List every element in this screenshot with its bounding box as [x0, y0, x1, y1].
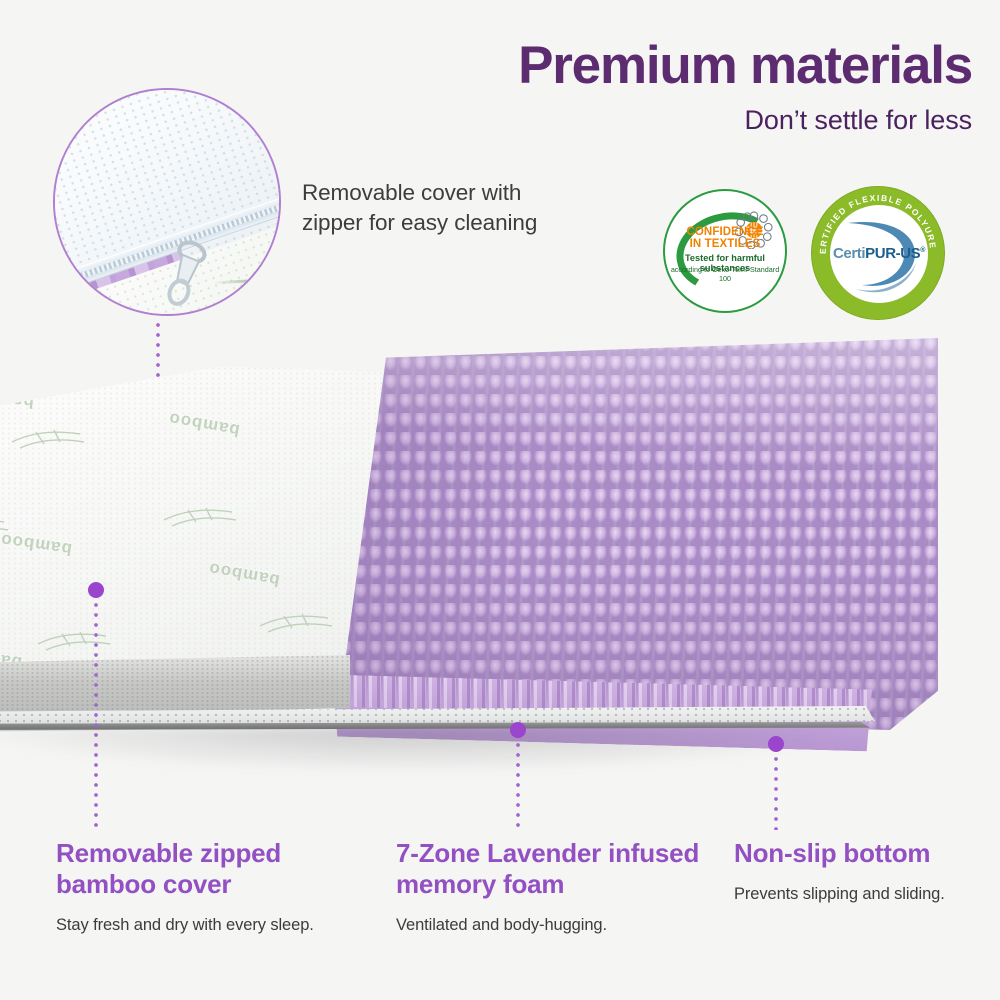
page-subtitle: Don’t settle for less — [352, 105, 972, 136]
mattress-topper: bamboo bamboo bamboo bamboo bamboo bambo… — [0, 330, 950, 760]
certipur-core: CertiPUR-US® — [830, 205, 928, 303]
bamboo-leaf-icon — [10, 426, 88, 452]
certipur-wordmark: CertiPUR-US® — [830, 245, 928, 262]
bamboo-leaf-icon — [0, 514, 12, 540]
cover-print-word: bamboo — [0, 384, 35, 411]
page-title: Premium materials — [352, 38, 972, 93]
bamboo-leaf-icon — [162, 504, 240, 530]
feature-description: Ventilated and body-hugging. — [396, 916, 716, 935]
oeko-tex-badge: CONFIDENCE IN TEXTILES Tested for harmfu… — [663, 189, 787, 313]
oeko-standard-line: according to Oeko-Tex® Standard 100 — [669, 265, 781, 283]
callout-dot-bamboo-cover — [88, 582, 104, 598]
feature-title: 7-Zone Lavender infused memory foam — [396, 838, 716, 900]
certipur-us-badge: CONTAINS CERTIFIED FLEXIBLE POLYURETHANE… — [811, 186, 945, 320]
callout-line-bamboo-cover — [94, 600, 98, 828]
feature-item-bamboo-cover: Removable zipped bamboo cover Stay fresh… — [56, 838, 356, 935]
certification-badges: CONFIDENCE IN TEXTILES Tested for harmfu… — [663, 186, 963, 316]
egg-crate-foam-surface — [338, 338, 938, 730]
foam-shading — [338, 338, 938, 730]
feature-item-memory-foam: 7-Zone Lavender infused memory foam Vent… — [396, 838, 716, 935]
headline-block: Premium materials Don’t settle for less — [352, 38, 972, 136]
feature-list: Removable zipped bamboo cover Stay fresh… — [0, 838, 1000, 968]
zipper-detail-inset — [53, 88, 281, 316]
cover-print-word: bamboo — [167, 408, 241, 440]
cover-print-word: bamboo — [207, 558, 281, 590]
zipper-callout-text: Removable cover with zipper for easy cle… — [302, 178, 582, 238]
callout-dot-foam — [510, 722, 526, 738]
callout-line-non-slip — [774, 754, 778, 830]
ground-shadow — [0, 728, 860, 774]
product-infographic: Premium materials Don’t settle for less — [0, 0, 1000, 1000]
feature-description: Prevents slipping and sliding. — [734, 885, 994, 904]
callout-dot-non-slip — [768, 736, 784, 752]
oeko-headline: CONFIDENCE IN TEXTILES — [665, 226, 785, 251]
callout-line-foam — [516, 740, 520, 830]
feature-item-non-slip: Non-slip bottom Prevents slipping and sl… — [734, 838, 994, 904]
feature-description: Stay fresh and dry with every sleep. — [56, 916, 356, 935]
zipper-detail-photo — [55, 90, 279, 314]
product-image: bamboo bamboo bamboo bamboo bamboo bambo… — [0, 330, 1000, 800]
bamboo-leaf-icon — [36, 628, 114, 654]
bamboo-leaf-icon — [258, 610, 336, 636]
feature-title: Removable zipped bamboo cover — [56, 838, 356, 900]
feature-title: Non-slip bottom — [734, 838, 994, 869]
